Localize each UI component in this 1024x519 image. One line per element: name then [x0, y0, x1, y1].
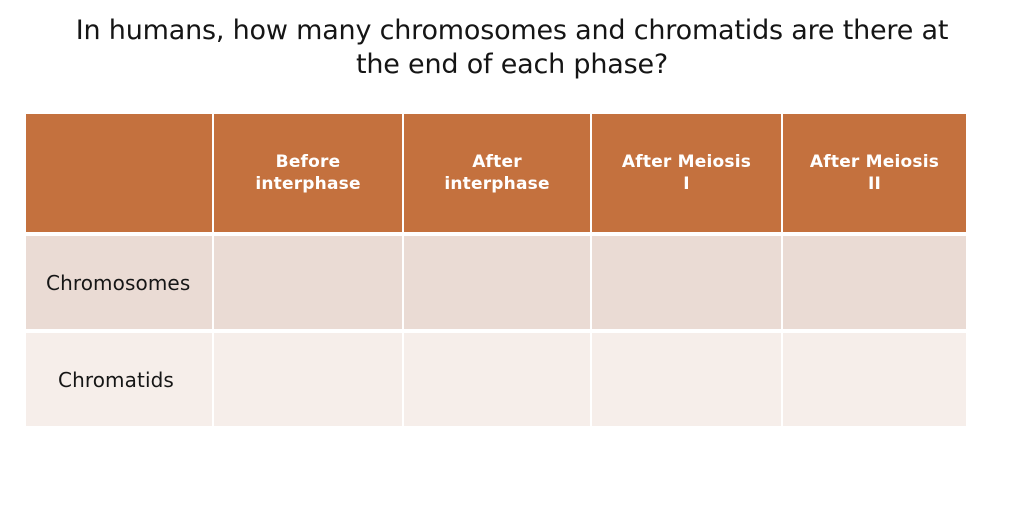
cell-chromosomes-after-meiosis-ii[interactable]: [783, 236, 966, 329]
table-corner-cell: [26, 114, 212, 232]
cell-chromatids-after-meiosis-ii[interactable]: [783, 333, 966, 426]
table-row: Chromosomes: [26, 236, 960, 329]
cell-chromosomes-after-interphase[interactable]: [404, 236, 590, 329]
column-header-after-meiosis-i: After Meiosis I: [592, 114, 781, 232]
row-label-chromatids: Chromatids: [26, 333, 212, 426]
cell-chromatids-before-interphase[interactable]: [214, 333, 402, 426]
table-header-row: Before interphase After interphase After…: [26, 114, 960, 232]
cell-chromosomes-after-meiosis-i[interactable]: [592, 236, 781, 329]
row-label-chromosomes: Chromosomes: [26, 236, 212, 329]
column-header-after-meiosis-ii: After Meiosis II: [783, 114, 966, 232]
cell-chromatids-after-interphase[interactable]: [404, 333, 590, 426]
table-row: Chromatids: [26, 333, 960, 426]
column-header-before-interphase: Before interphase: [214, 114, 402, 232]
cell-chromosomes-before-interphase[interactable]: [214, 236, 402, 329]
page-title: In humans, how many chromosomes and chro…: [0, 14, 1024, 82]
column-header-after-interphase: After interphase: [404, 114, 590, 232]
cell-chromatids-after-meiosis-i[interactable]: [592, 333, 781, 426]
worksheet-table: Before interphase After interphase After…: [26, 114, 960, 426]
